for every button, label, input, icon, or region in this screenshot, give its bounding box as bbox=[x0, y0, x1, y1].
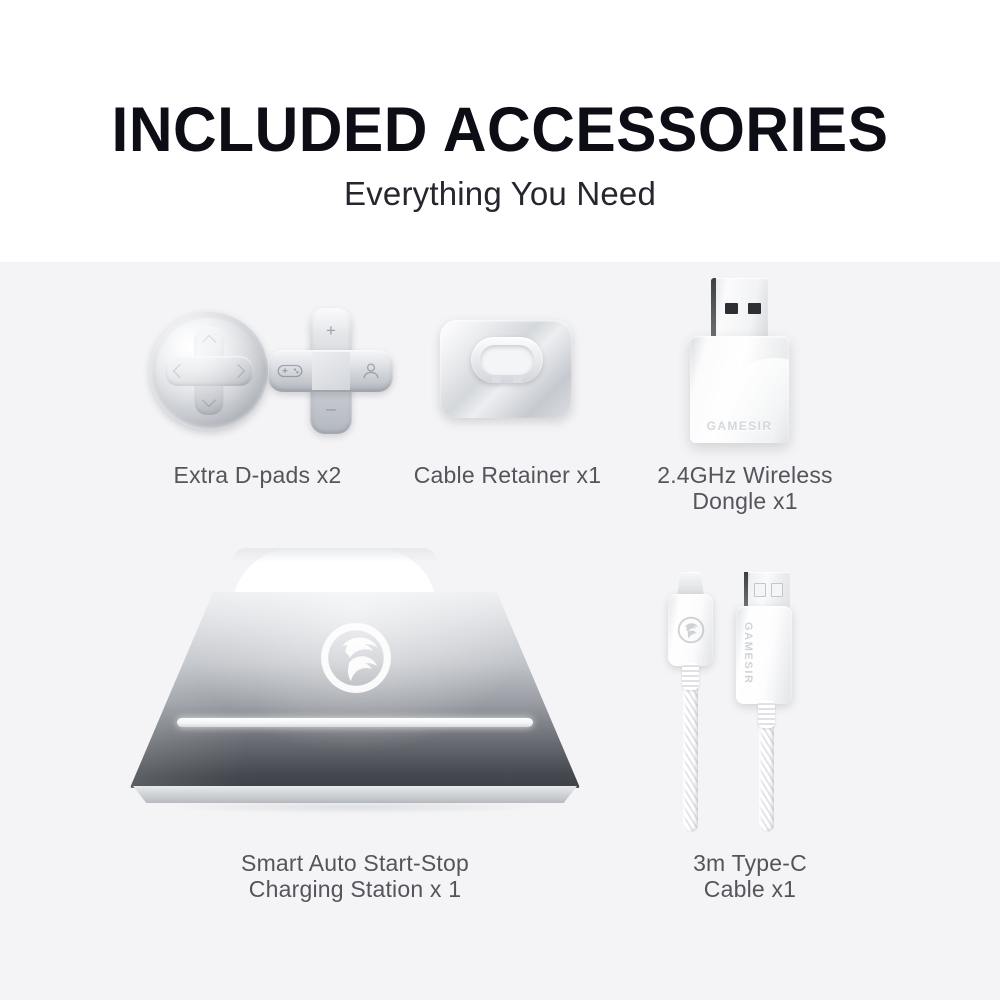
braided-cable-usb-a bbox=[759, 718, 774, 832]
accessory-cable-retainer bbox=[440, 320, 580, 430]
accessory-wireless-dongle: GAMESIR bbox=[690, 278, 800, 443]
accessory-type-c-cable: GAMESIR bbox=[655, 570, 825, 835]
caption-cable-retainer: Cable Retainer x1 bbox=[400, 462, 615, 488]
page-subtitle: Everything You Need bbox=[0, 172, 1000, 216]
cable-retainer-icon bbox=[440, 320, 572, 418]
caption-dpads: Extra D-pads x2 bbox=[110, 462, 405, 488]
accessories-page: INCLUDED ACCESSORIES Everything You Need… bbox=[0, 0, 1000, 1000]
usb-c-tip-icon bbox=[677, 572, 704, 596]
dongle-body: GAMESIR bbox=[690, 336, 789, 443]
usb-plug-edge bbox=[711, 278, 716, 340]
station-shadow bbox=[170, 800, 540, 814]
cable-brand-text: GAMESIR bbox=[742, 622, 754, 688]
page-title: INCLUDED ACCESSORIES bbox=[20, 94, 980, 166]
usb-contact-slot bbox=[748, 303, 761, 314]
minus-glyph: – bbox=[320, 400, 342, 417]
retainer-hole bbox=[480, 345, 534, 375]
caption-charging-station: Smart Auto Start-Stop Charging Station x… bbox=[130, 850, 580, 902]
usb-contact-slot bbox=[725, 303, 738, 314]
dongle-brand-text: GAMESIR bbox=[690, 419, 789, 433]
usb-c-connector bbox=[668, 594, 713, 666]
arrow-up-icon bbox=[202, 335, 216, 349]
braided-cable-type-c bbox=[683, 680, 698, 832]
usb-a-tip-icon bbox=[744, 572, 790, 608]
station-light-bar bbox=[177, 718, 533, 727]
arrow-down-icon bbox=[202, 393, 216, 407]
plus-glyph: + bbox=[320, 322, 342, 339]
profile-icon bbox=[358, 359, 384, 383]
caption-type-c-cable: 3m Type-C Cable x1 bbox=[640, 850, 860, 902]
usb-contact-slot bbox=[771, 583, 783, 597]
dpad-cross-icon: + – bbox=[268, 308, 393, 436]
strain-relief-usb-a bbox=[758, 700, 775, 728]
accessory-charging-station bbox=[130, 548, 580, 823]
dpad-round-horizontal-arm bbox=[165, 356, 253, 386]
retainer-ring bbox=[471, 337, 543, 383]
caption-wireless-dongle: 2.4GHz Wireless Dongle x1 bbox=[630, 462, 860, 514]
usb-contact-slot bbox=[754, 583, 766, 597]
strain-relief-type-c bbox=[682, 662, 699, 690]
gamesir-falcon-logo-icon bbox=[318, 620, 394, 696]
retainer-tab bbox=[492, 375, 501, 383]
dpad-round-icon bbox=[150, 312, 268, 430]
arrow-left-icon bbox=[173, 364, 187, 378]
usb-a-connector: GAMESIR bbox=[736, 606, 792, 704]
usb-a-tip-edge bbox=[744, 572, 748, 608]
dpad-round-vertical-arm bbox=[194, 327, 224, 415]
gamesir-falcon-logo-icon bbox=[677, 616, 705, 644]
arrow-right-icon bbox=[231, 364, 245, 378]
gamepad-icon bbox=[277, 359, 303, 383]
dpad-cross-center bbox=[312, 352, 350, 390]
retainer-tab bbox=[513, 375, 522, 383]
dpad-round-cross bbox=[163, 325, 255, 417]
